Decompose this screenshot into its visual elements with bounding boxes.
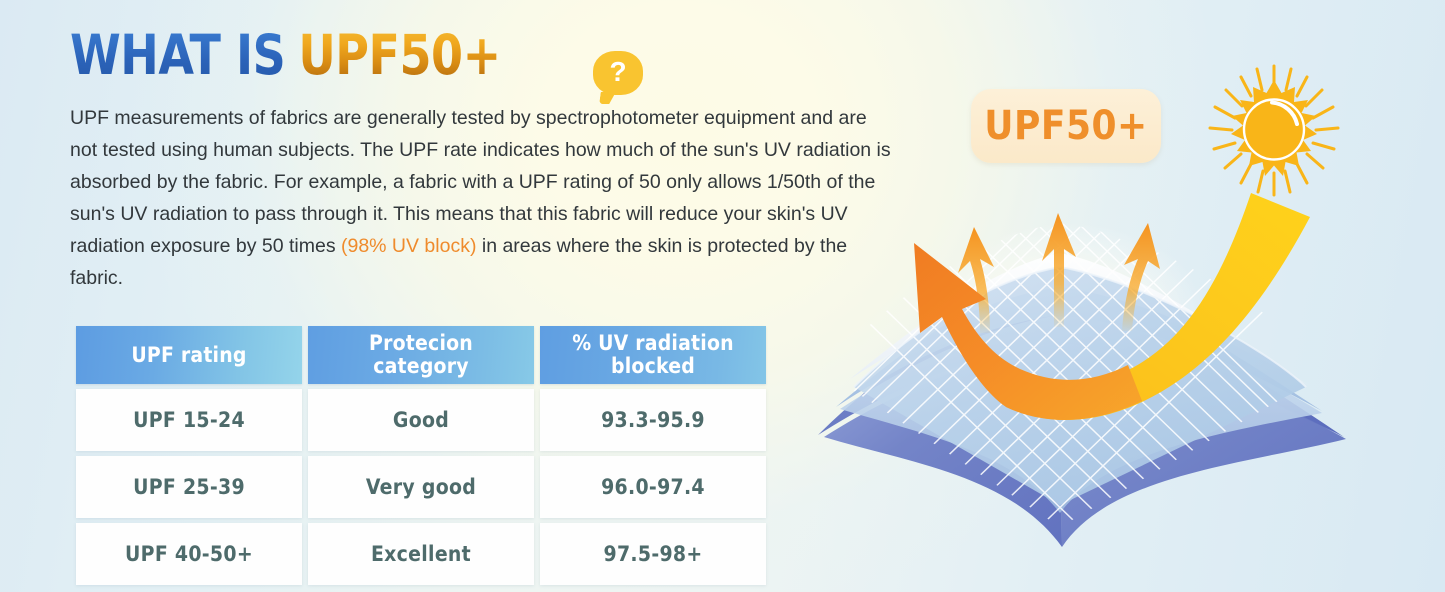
table-cell-rating: UPF 15-24 <box>76 389 302 451</box>
table-header-uv-blocked: % UV radiation blocked <box>540 326 766 384</box>
table-cell-category-value: Excellent <box>308 523 534 585</box>
table-row: UPF 25-39 Very good 96.0-97.4 <box>76 456 766 518</box>
table-row: UPF 15-24 Good 93.3-95.9 <box>76 389 766 451</box>
table-body: UPF 15-24 Good 93.3-95.9 UPF 25-39 Very … <box>76 389 766 585</box>
upf50-badge-label: UPF50+ <box>984 106 1147 146</box>
table-header-protection-line2: category <box>369 355 473 378</box>
description-paragraph: UPF measurements of fabrics are generall… <box>70 102 898 294</box>
page-title-part2: UPF50+ <box>298 23 500 87</box>
question-mark-glyph: ? <box>593 51 643 95</box>
table-cell-blocked: 97.5-98+ <box>540 523 766 585</box>
table-cell-rating-value: UPF 15-24 <box>76 389 302 451</box>
upf50-infographic: WHAT ISUPF50+ ? UPF measurements of fabr… <box>0 0 1445 592</box>
table-cell-category: Very good <box>308 456 534 518</box>
illustration-area: UPF50+ <box>800 0 1445 592</box>
table-cell-rating-value: UPF 40-50+ <box>76 523 302 585</box>
table-row: UPF 40-50+ Excellent 97.5-98+ <box>76 523 766 585</box>
question-bubble-icon: ? <box>593 51 643 95</box>
table-cell-blocked: 96.0-97.4 <box>540 456 766 518</box>
table-cell-rating: UPF 40-50+ <box>76 523 302 585</box>
upf-rating-table: UPF rating Protecion category <box>70 321 772 590</box>
table-header-row: UPF rating Protecion category <box>76 326 766 384</box>
page-title-part1: WHAT IS <box>70 23 285 87</box>
page-title: WHAT ISUPF50+ <box>70 24 842 86</box>
table-header-uv-blocked-line2: blocked <box>572 355 734 378</box>
upf50-badge: UPF50+ <box>971 89 1161 163</box>
table-cell-category-value: Good <box>308 389 534 451</box>
table-cell-rating-value: UPF 25-39 <box>76 456 302 518</box>
table-header-upf-rating-label: UPF rating <box>131 344 246 367</box>
table-header-protection-line1: Protecion <box>369 332 473 355</box>
table-header-upf-rating: UPF rating <box>76 326 302 384</box>
table-header-uv-blocked-line1: % UV radiation <box>572 332 734 355</box>
table-cell-category: Excellent <box>308 523 534 585</box>
table-cell-category-value: Very good <box>308 456 534 518</box>
table-cell-category: Good <box>308 389 534 451</box>
table-header-protection-category: Protecion category <box>308 326 534 384</box>
table-cell-blocked-value: 93.3-95.9 <box>540 389 766 451</box>
table-cell-blocked-value: 96.0-97.4 <box>540 456 766 518</box>
table-cell-rating: UPF 25-39 <box>76 456 302 518</box>
table-cell-blocked: 93.3-95.9 <box>540 389 766 451</box>
uv-block-highlight: (98% UV block) <box>341 235 476 257</box>
fabric-illustration <box>810 175 1370 575</box>
left-content-column: WHAT ISUPF50+ ? UPF measurements of fabr… <box>70 24 900 590</box>
table-cell-blocked-value: 97.5-98+ <box>540 523 766 585</box>
